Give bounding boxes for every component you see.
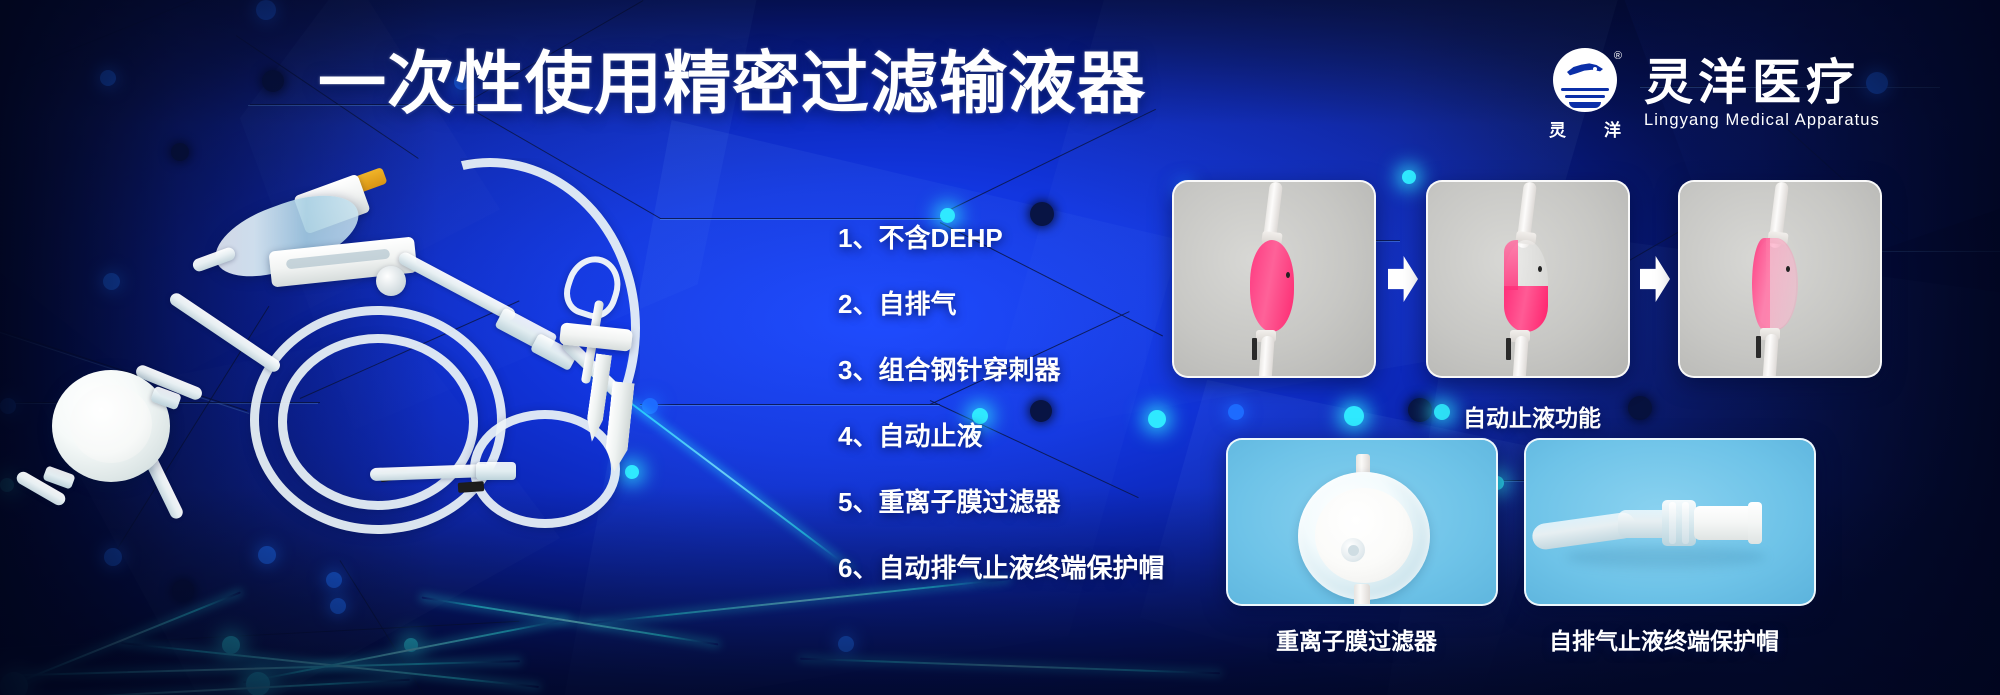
logo-emblem-icon [1553,48,1617,112]
logo-bird-eye-icon [1593,67,1597,71]
filter-face-highlight [70,385,152,463]
product-banner: 一次性使用精密过滤输液器 ® 灵 洋 灵洋医疗 Lingyang Medical… [0,0,2000,695]
feature-item-6: 6、自动排气止液终端保护帽 [838,555,1164,581]
page-title: 一次性使用精密过滤输液器 [318,50,1146,118]
step3-float-indicator [1786,266,1790,272]
demo-panel-step-2 [1426,180,1630,378]
step1-clip [1252,338,1257,360]
logo-mark: ® 灵 洋 [1546,48,1624,141]
cap-drop-shadow [1566,546,1766,568]
detail-panel-filter [1226,438,1498,606]
demo-panel-step-1 [1172,180,1376,378]
demo-panel-step-3 [1678,180,1882,378]
step1-float-indicator [1286,272,1290,278]
cap-luer-hub [1662,500,1696,546]
brand-name-en: Lingyang Medical Apparatus [1644,111,1880,130]
demo-row-caption: 自动止液功能 [1463,399,1601,433]
feature-item-2: 2、自排气 [838,291,1164,317]
brand-logo: ® 灵 洋 灵洋医疗 Lingyang Medical Apparatus [1546,48,1880,141]
cap-protective-cap [1694,506,1756,540]
step1-fluid [1250,240,1294,332]
terminal-luer [476,462,516,480]
cap-hub-ring-2 [1682,502,1689,544]
tubing-marker-2 [458,481,485,493]
tubing-left-run [167,291,282,374]
logo-wave-icon-3 [1569,102,1601,108]
detail-caption-cap: 自排气止液终端保护帽 [1549,622,1779,656]
logo-wordmark: 灵洋医疗 Lingyang Medical Apparatus [1644,59,1880,131]
filter-membrane [1315,488,1413,583]
logo-bird-icon [1567,61,1603,81]
coiled-tubing-inner [278,334,478,510]
filter-bottom-port [1354,584,1370,606]
step2-fluid-residue [1504,240,1518,290]
brand-name-cn: 灵洋医疗 [1644,59,1880,109]
logo-wave-icon-2 [1565,95,1605,98]
logo-mark-char-left: 灵 [1549,116,1566,141]
detail-panel-cap [1524,438,1816,606]
filter-center-nub-inner [1348,545,1359,556]
registered-trademark-icon: ® [1614,50,1622,62]
feature-item-1: 1、不含DEHP [838,225,1164,251]
hero-product-image [40,170,800,570]
logo-mark-subtext: 灵 洋 [1546,116,1624,141]
step2-clip [1506,338,1511,360]
logo-mark-char-right: 洋 [1604,116,1621,141]
detail-caption-filter: 重离子膜过滤器 [1276,622,1437,656]
step2-float-indicator [1538,266,1542,272]
logo-wave-icon-1 [1561,88,1609,91]
feature-item-5: 5、重离子膜过滤器 [838,489,1164,515]
roller-wheel [376,266,406,296]
cap-end-flange [1748,502,1762,544]
step3-clip [1756,336,1761,358]
feature-item-4: 4、自动止液 [838,423,1164,449]
feature-list: 1、不含DEHP 2、自排气 3、组合钢针穿刺器 4、自动止液 5、重离子膜过滤… [838,225,1164,621]
feature-item-3: 3、组合钢针穿刺器 [838,357,1164,383]
cap-hub-ring-1 [1669,502,1676,544]
